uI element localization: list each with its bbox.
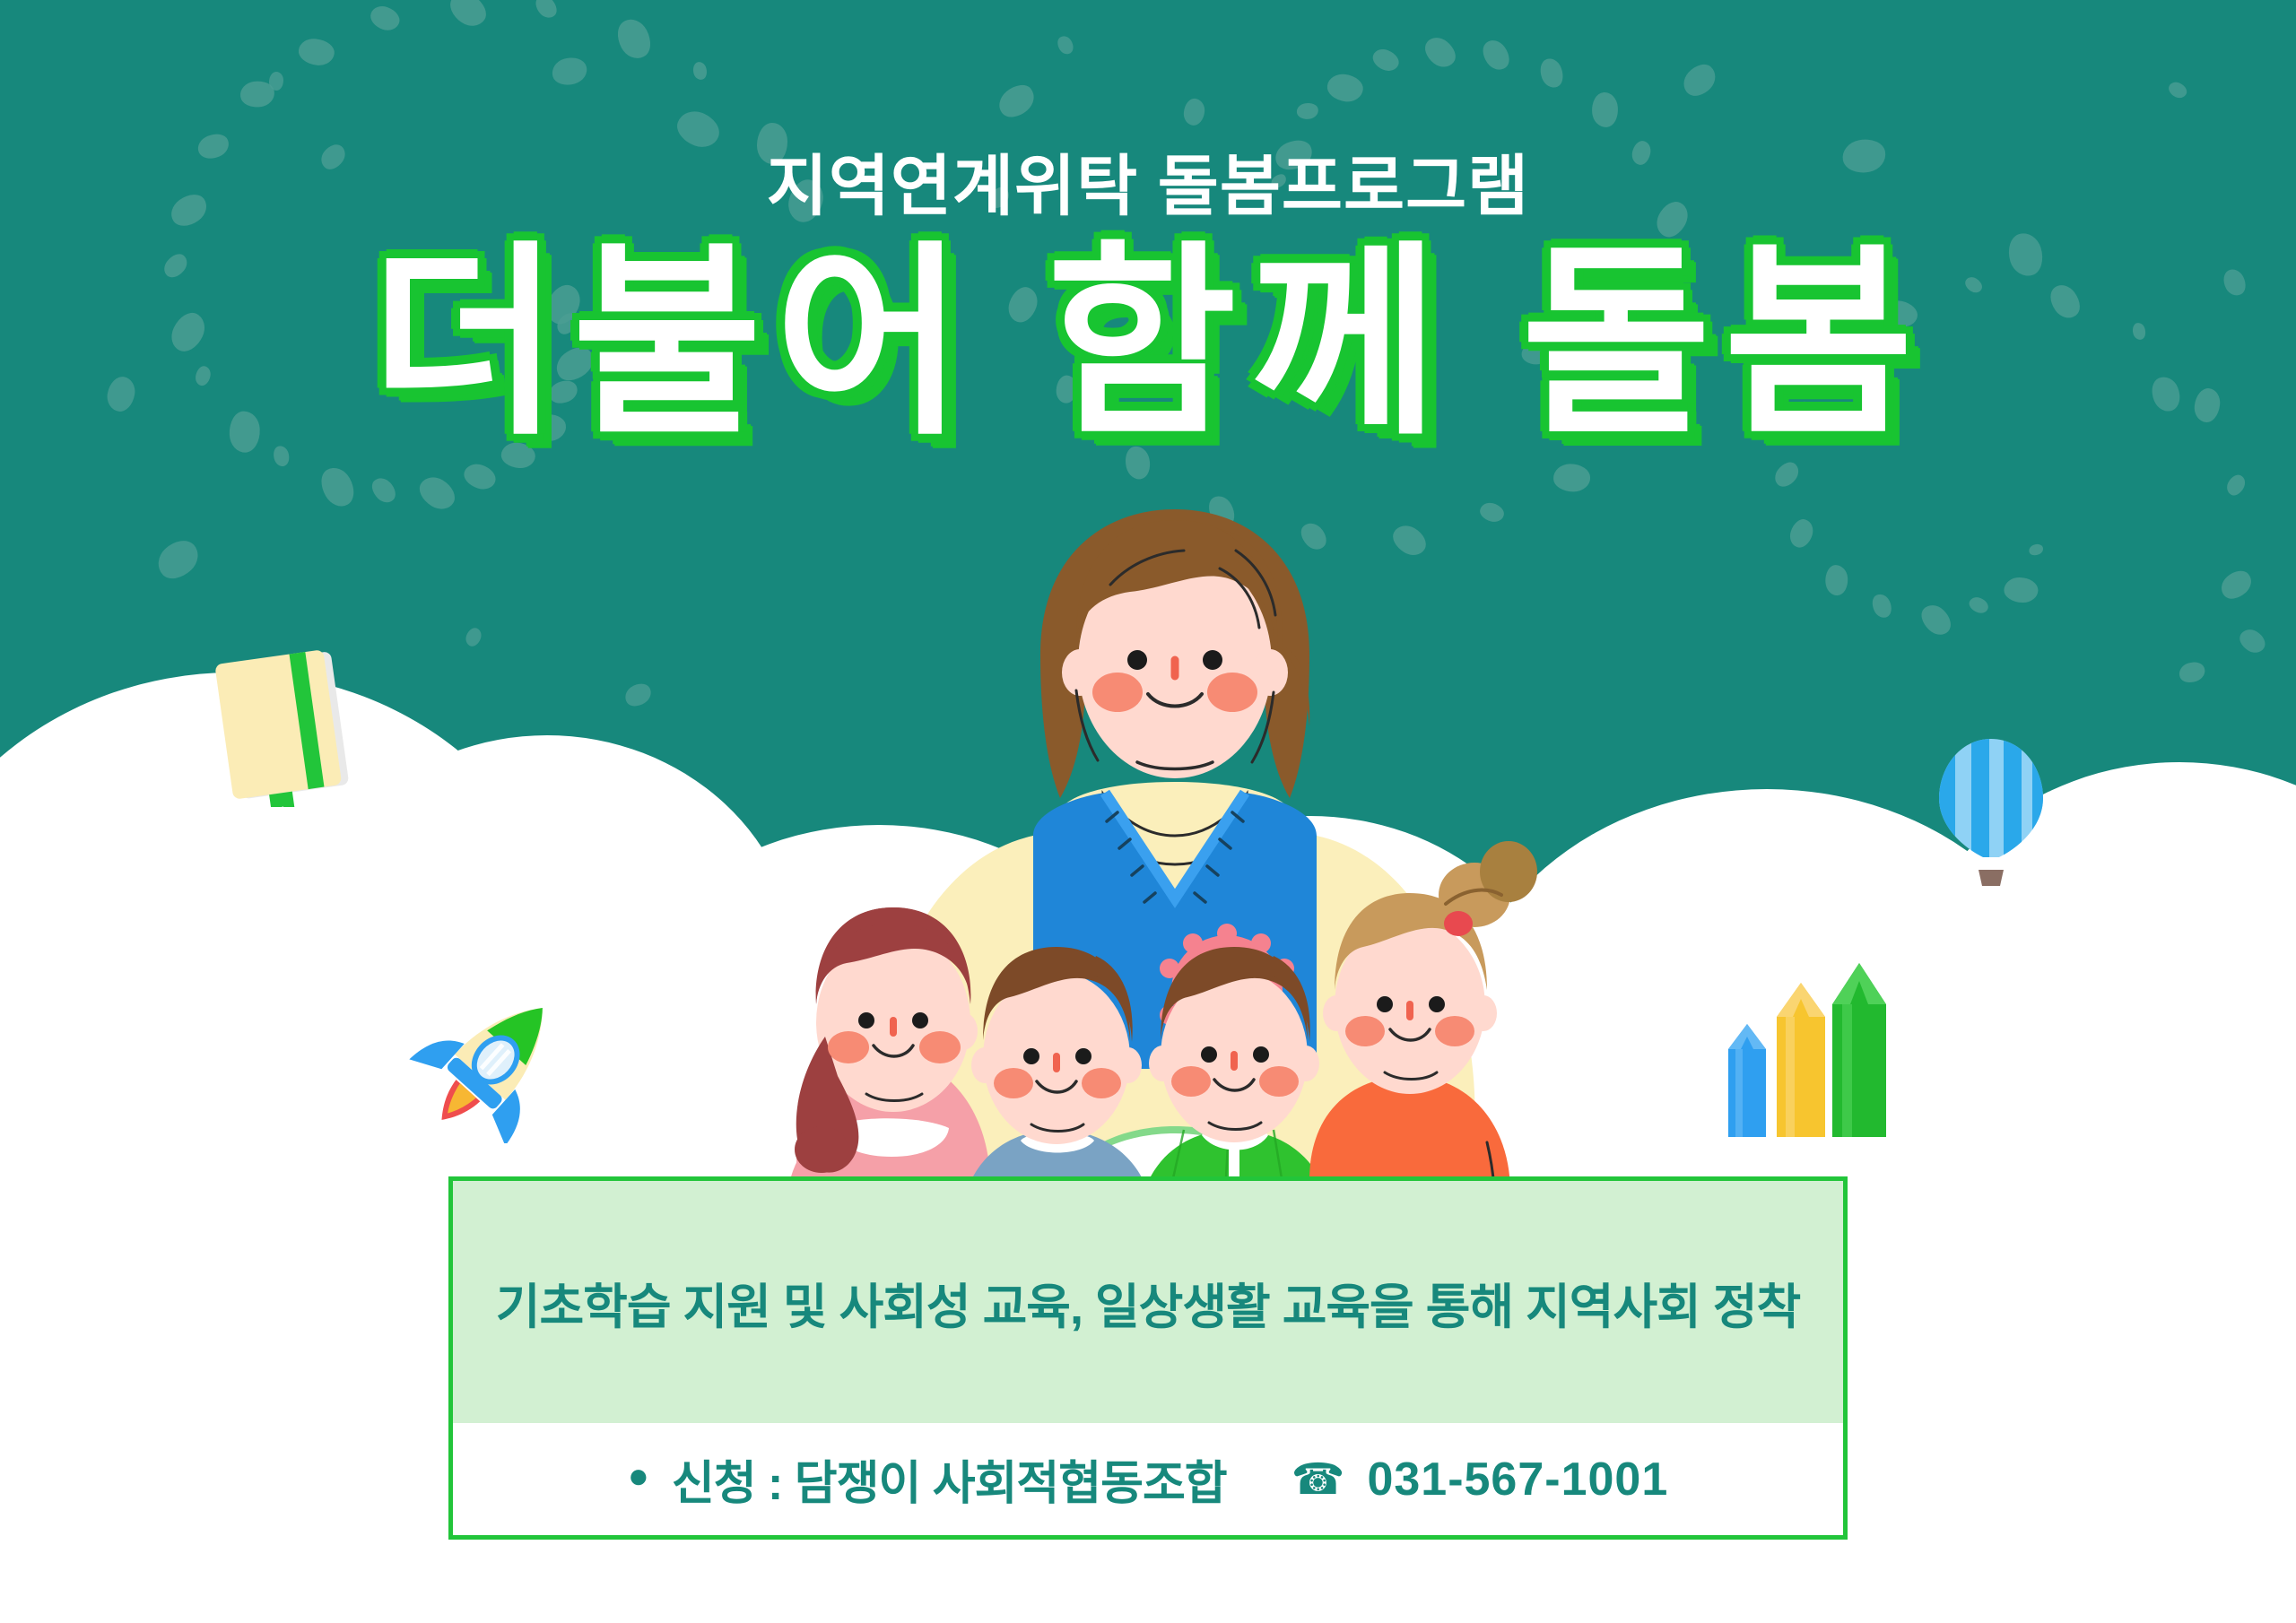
- information-box: 기초학습 지원 및 사회성 교육, 일상생활 교육을 통해 지역사회 정착 ● …: [448, 1176, 1848, 1540]
- background-dot: [1536, 55, 1567, 90]
- poster-canvas: 지역연계위탁 돌봄프로그램 더불어 함께 돌봄: [0, 0, 2296, 1623]
- background-dot: [368, 3, 404, 33]
- background-dot: [444, 0, 492, 32]
- background-dot: [462, 460, 500, 492]
- background-dot: [549, 54, 590, 90]
- background-dot: [1055, 33, 1077, 56]
- background-dot: [1787, 516, 1816, 550]
- background-dot: [2223, 472, 2248, 499]
- contact-row: ● 신청 : 담쟁이 사회적협동조합 ☎ 031-567-1001: [453, 1423, 1843, 1535]
- background-dot: [315, 463, 361, 512]
- background-dot: [2028, 542, 2045, 558]
- background-dot: [1552, 464, 1590, 491]
- background-dot: [1477, 35, 1514, 74]
- background-dot: [1295, 102, 1318, 121]
- background-dot: [691, 61, 709, 82]
- teacher-and-children-illustration: [682, 502, 1668, 1291]
- background-dot: [271, 444, 291, 468]
- background-dot: [1678, 58, 1721, 102]
- background-dot: [414, 471, 461, 515]
- program-description: 기초학습 지원 및 사회성 교육, 일상생활 교육을 통해 지역사회 정착: [496, 1267, 1800, 1338]
- apply-label: 신청 : 담쟁이 사회적협동조합: [672, 1445, 1227, 1513]
- phone-number[interactable]: 031-567-1001: [1367, 1453, 1668, 1506]
- background-dot: [1590, 91, 1619, 128]
- background-dot: [2166, 80, 2189, 100]
- poster-subtitle: 지역연계위탁 돌봄프로그램: [0, 133, 2296, 229]
- phone-icon: ☎: [1291, 1454, 1344, 1505]
- background-dot: [531, 0, 561, 22]
- background-dot: [1326, 73, 1365, 104]
- colored-pencils-icon: [1718, 950, 1897, 1148]
- program-description-band: 기초학습 지원 및 사회성 교육, 일상생활 교육을 통해 지역사회 정착: [453, 1181, 1843, 1423]
- background-dot: [269, 72, 283, 91]
- background-dot: [1771, 457, 1804, 490]
- notebook-icon: [206, 650, 377, 807]
- background-dot: [298, 37, 336, 66]
- background-dot: [1419, 32, 1460, 73]
- background-dot: [1183, 98, 1206, 126]
- background-dot: [1370, 46, 1402, 74]
- background-dot: [994, 79, 1040, 125]
- background-dot: [368, 473, 401, 507]
- bullet-icon: ●: [628, 1458, 648, 1494]
- hot-air-balloon-icon: [1928, 735, 2054, 888]
- background-dot: [611, 14, 657, 65]
- poster-title: 더불어 함께 돌봄: [0, 240, 2296, 447]
- rocket-icon: [404, 982, 583, 1143]
